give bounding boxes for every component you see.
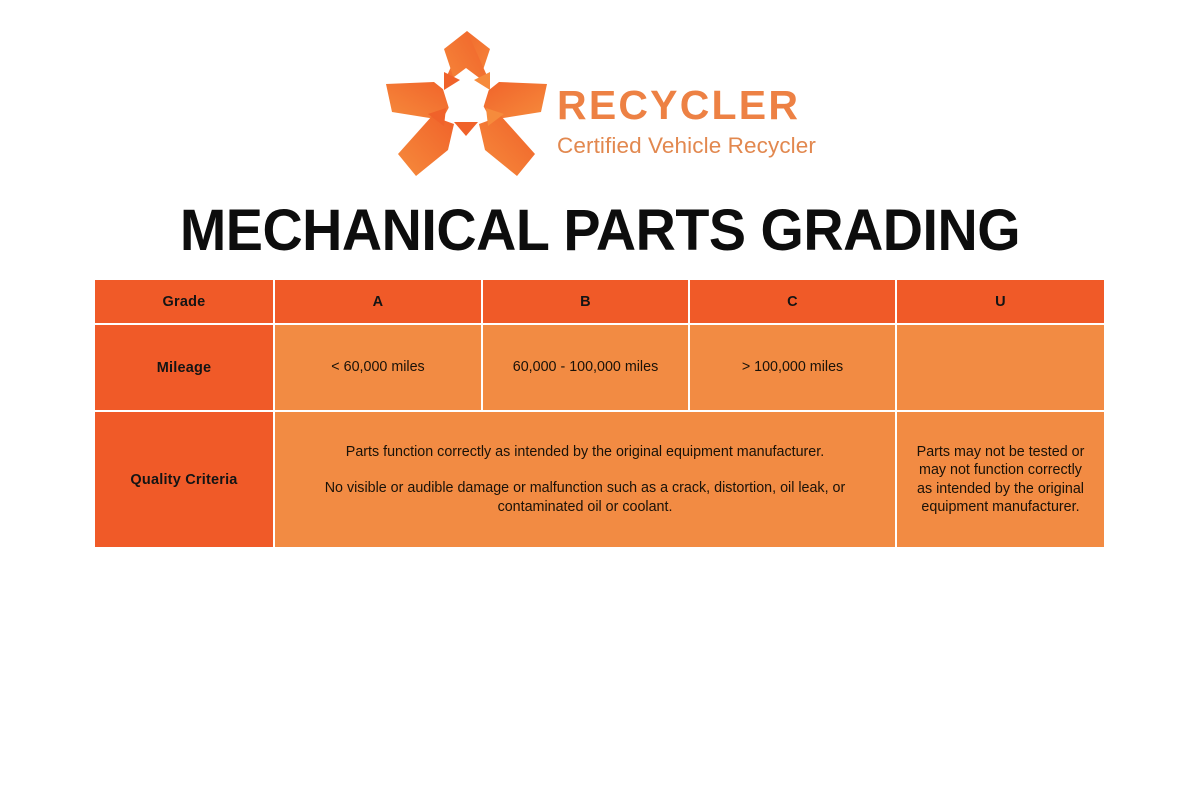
brand-tagline: Certified Vehicle Recycler	[557, 132, 816, 160]
table-row-quality-criteria: Quality Criteria Parts function correctl…	[95, 412, 1104, 547]
quality-criteria-paragraph-1: Parts function correctly as intended by …	[297, 443, 873, 461]
quality-criteria-paragraph-2: No visible or audible damage or malfunct…	[297, 479, 873, 516]
column-header-grade-u: U	[897, 280, 1104, 325]
brand-logo: RECYCLER Certified Vehicle Recycler	[0, 28, 1200, 180]
logo-wordmark: RECYCLER Certified Vehicle Recycler	[557, 47, 816, 160]
logo-inner: RECYCLER Certified Vehicle Recycler	[384, 28, 816, 180]
table-row-mileage: Mileage < 60,000 miles 60,000 - 100,000 …	[95, 325, 1104, 412]
column-header-grade: Grade	[95, 280, 275, 325]
column-header-grade-a: A	[275, 280, 483, 325]
cell-mileage-b: 60,000 - 100,000 miles	[483, 325, 690, 412]
recycling-star-logo-icon	[384, 28, 549, 180]
cell-quality-criteria-abc: Parts function correctly as intended by …	[275, 412, 897, 547]
brand-name: RECYCLER	[557, 85, 816, 126]
page-title: MECHANICAL PARTS GRADING	[24, 196, 1176, 266]
mechanical-parts-grading-table: Grade A B C U Mileage < 60,000 miles 60,…	[95, 280, 1104, 547]
cell-mileage-c: > 100,000 miles	[690, 325, 897, 412]
row-label-quality-criteria: Quality Criteria	[95, 412, 275, 547]
column-header-grade-c: C	[690, 280, 897, 325]
document-page: RECYCLER Certified Vehicle Recycler MECH…	[0, 0, 1200, 800]
cell-quality-criteria-u: Parts may not be tested or may not funct…	[897, 412, 1104, 547]
table-header-row: Grade A B C U	[95, 280, 1104, 325]
table-body: Mileage < 60,000 miles 60,000 - 100,000 …	[95, 325, 1104, 547]
cell-mileage-u	[897, 325, 1104, 412]
cell-mileage-a: < 60,000 miles	[275, 325, 483, 412]
row-label-mileage: Mileage	[95, 325, 275, 412]
column-header-grade-b: B	[483, 280, 690, 325]
table-header: Grade A B C U	[95, 280, 1104, 325]
